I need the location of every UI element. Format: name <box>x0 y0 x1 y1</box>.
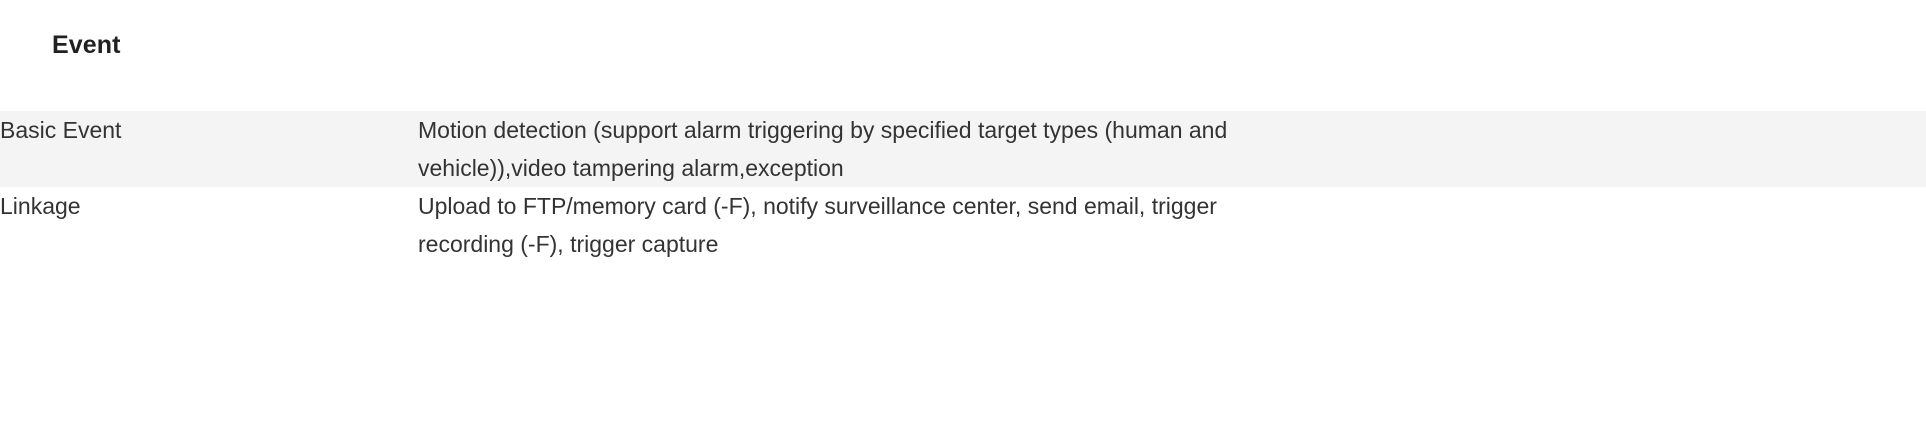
spec-label-cell: Linkage <box>0 187 418 263</box>
page-title: Event <box>52 28 121 62</box>
spec-value-cell: Motion detection (support alarm triggeri… <box>418 111 1926 187</box>
event-spec-section: Event Basic Event Motion detection (supp… <box>0 0 1926 422</box>
spec-value-text: Motion detection (support alarm triggeri… <box>418 111 1298 187</box>
spec-table-body: Basic Event Motion detection (support al… <box>0 111 1926 263</box>
table-row: Basic Event Motion detection (support al… <box>0 111 1926 187</box>
spec-value-text: Upload to FTP/memory card (-F), notify s… <box>418 187 1298 263</box>
event-spec-table: Basic Event Motion detection (support al… <box>0 111 1926 263</box>
table-row: Linkage Upload to FTP/memory card (-F), … <box>0 187 1926 263</box>
spec-label-cell: Basic Event <box>0 111 418 187</box>
spec-value-cell: Upload to FTP/memory card (-F), notify s… <box>418 187 1926 263</box>
